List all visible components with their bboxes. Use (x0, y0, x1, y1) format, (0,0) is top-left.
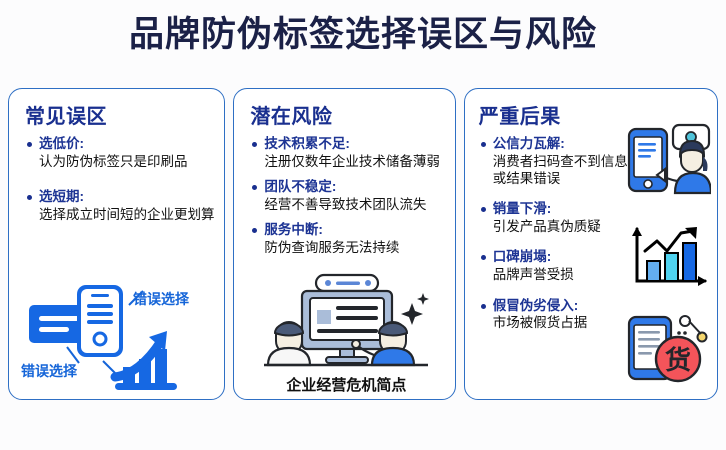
smartphone-icon (629, 129, 667, 191)
panel-header-potential-risks: 潜在风险 (250, 100, 454, 129)
bullet-desc: 消费者扫码查不到信息或结果错误 (493, 153, 629, 188)
bar-chart-up-arrow-icon (115, 331, 177, 390)
bullet-title: 口碑崩塌: (493, 248, 629, 266)
counterfeit-svg: 货 (623, 311, 709, 385)
panels-container: 常见误区 选低价: 认为防伪标签只是印刷品 选短期: 选择成立时间短的企业更划算 (8, 88, 718, 400)
panel-common-mistakes: 常见误区 选低价: 认为防伪标签只是印刷品 选短期: 选择成立时间短的企业更划算 (8, 88, 225, 400)
page-title: 品牌防伪标签选择误区与风险 (0, 16, 726, 55)
sparkle-icon (401, 293, 429, 325)
wrong-choice-illustration: 错误选择 错误选择 (15, 275, 221, 393)
bullet-list-serious-consequences: 公信力瓦解: 消费者扫码查不到信息或结果错误 销量下滑: 引发产品真伪质疑 口碑… (465, 135, 633, 332)
chart-bars (647, 243, 696, 281)
bullet-desc: 注册仅数年企业技术储备薄弱 (264, 153, 446, 170)
sales-chart-svg (627, 225, 709, 289)
bullet-title: 技术积累不足: (264, 135, 446, 153)
red-stamp-icon: 货 (656, 337, 700, 381)
list-item: 销量下滑: 引发产品真伪质疑 (479, 200, 629, 235)
list-item: 服务中断: 防伪查询服务无法持续 (250, 221, 446, 256)
bullet-list-potential-risks: 技术积累不足: 注册仅数年企业技术储备薄弱 团队不稳定: 经营不善导致技术团队流… (234, 135, 454, 256)
spacer (465, 284, 633, 297)
spacer (465, 235, 633, 248)
panel-header-common-mistakes: 常见误区 (25, 100, 224, 129)
webcam-bar-icon (316, 275, 378, 291)
infographic-root: 品牌防伪标签选择误区与风险 常见误区 选低价: 认为防伪标签只是印刷品 选短期:… (0, 0, 726, 450)
bullet-desc: 经营不善导致技术团队流失 (264, 196, 446, 213)
bullet-title: 选低价: (39, 135, 216, 153)
list-item: 团队不稳定: 经营不善导致技术团队流失 (250, 178, 446, 213)
phone-scan-person-svg (625, 121, 711, 195)
phone-scan-person-illustration (625, 121, 711, 195)
bullet-title: 选短期: (39, 188, 216, 206)
stamp-text: 货 (665, 345, 691, 375)
bullet-desc: 引发产品真伪质疑 (493, 218, 629, 235)
bullet-title: 服务中断: (264, 221, 446, 239)
list-item: 选短期: 选择成立时间短的企业更划算 (25, 188, 216, 223)
wrong-choice-label: 错误选择 (133, 289, 189, 309)
bullet-desc: 市场被假货占据 (493, 314, 629, 331)
list-item: 选低价: 认为防伪标签只是印刷品 (25, 135, 216, 170)
bullet-desc: 认为防伪标签只是印刷品 (39, 153, 216, 170)
bullet-title: 公信力瓦解: (493, 135, 629, 153)
bullet-desc: 选择成立时间短的企业更划算 (39, 206, 216, 223)
business-crisis-svg (262, 273, 430, 371)
bullet-desc: 品牌声誉受损 (493, 266, 629, 283)
bullet-title: 团队不稳定: (264, 178, 446, 196)
smartphone-icon (77, 285, 123, 357)
panel-potential-risks: 潜在风险 技术积累不足: 注册仅数年企业技术储备薄弱 团队不稳定: 经营不善导致… (233, 88, 455, 400)
wrong-choice-label: 错误选择 (21, 361, 77, 381)
list-item: 假冒伪劣侵入: 市场被假货占据 (479, 297, 629, 332)
bullet-list-common-mistakes: 选低价: 认为防伪标签只是印刷品 选短期: 选择成立时间短的企业更划算 (9, 135, 224, 223)
illustration-caption: 企业经营危机简点 (262, 374, 430, 395)
spacer (234, 213, 454, 221)
spacer (465, 187, 633, 200)
leader-line (103, 361, 115, 373)
bullet-title: 假冒伪劣侵入: (493, 297, 629, 315)
list-item: 公信力瓦解: 消费者扫码查不到信息或结果错误 (479, 135, 629, 187)
bullet-title: 销量下滑: (493, 200, 629, 218)
list-item: 口碑崩塌: 品牌声誉受损 (479, 248, 629, 283)
list-item: 技术积累不足: 注册仅数年企业技术储备薄弱 (250, 135, 446, 170)
spacer (234, 170, 454, 178)
panel-serious-consequences: 严重后果 公信力瓦解: 消费者扫码查不到信息或结果错误 销量下滑: 引发产品真伪… (464, 88, 718, 400)
declining-sales-chart-illustration (627, 225, 709, 289)
business-crisis-illustration: 企业经营危机简点 (262, 273, 430, 395)
spacer (9, 170, 224, 188)
bullet-desc: 防伪查询服务无法持续 (264, 239, 446, 256)
counterfeit-goods-illustration: 货 (623, 311, 709, 385)
